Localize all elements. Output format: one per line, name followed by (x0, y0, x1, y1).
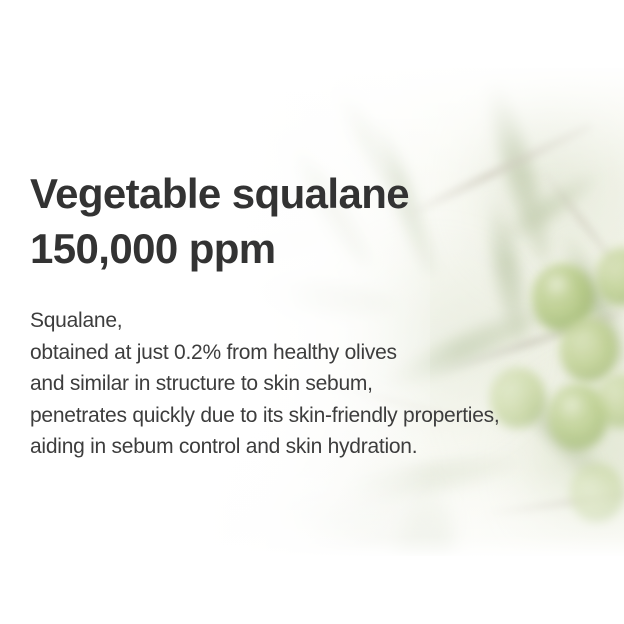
body-line-5: aiding in sebum control and skin hydrati… (30, 431, 620, 463)
headline-block: Vegetable squalane 150,000 ppm (30, 166, 610, 277)
headline-line-2: 150,000 ppm (30, 221, 610, 276)
body-line-2: obtained at just 0.2% from healthy olive… (30, 337, 620, 369)
body-copy-block: Squalane, obtained at just 0.2% from hea… (30, 305, 620, 463)
fruit-highlight-1 (544, 274, 570, 294)
body-line-3: and similar in structure to skin sebum, (30, 368, 620, 400)
olive-fruit-6 (570, 464, 624, 522)
body-line-1: Squalane, (30, 305, 620, 337)
body-line-4: penetrates quickly due to its skin-frien… (30, 400, 620, 432)
headline-line-1: Vegetable squalane (30, 166, 610, 221)
product-banner: Vegetable squalane 150,000 ppm Squalane,… (0, 0, 624, 624)
